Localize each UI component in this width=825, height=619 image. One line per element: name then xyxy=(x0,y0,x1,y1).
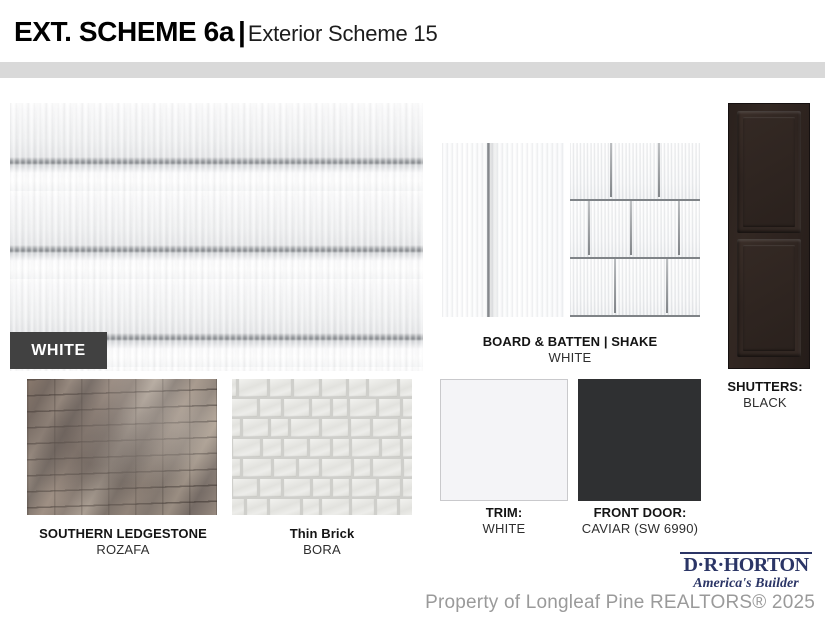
brick-unit xyxy=(400,499,412,515)
brick-unit xyxy=(379,479,401,497)
brick-unit xyxy=(401,419,412,437)
caption-title: Thin Brick xyxy=(236,526,408,542)
brick-unit xyxy=(284,479,310,497)
brick-unit xyxy=(322,499,349,515)
caption-title: BOARD & BATTEN | SHAKE xyxy=(430,334,710,350)
brick-unit xyxy=(369,379,397,397)
brick-unit xyxy=(270,379,291,397)
brick-unit xyxy=(379,399,400,417)
brick-unit xyxy=(312,399,330,417)
brick-unit xyxy=(303,499,319,515)
brick-unit xyxy=(260,479,282,497)
caption-title: SHUTTERS: xyxy=(706,379,824,395)
brick-course xyxy=(232,379,412,400)
caption-value: BORA xyxy=(236,542,408,558)
brick-course xyxy=(232,439,412,460)
brick-unit xyxy=(351,419,370,437)
caption-title: FRONT DOOR: xyxy=(565,505,715,521)
brick-unit xyxy=(274,459,296,477)
brick-unit xyxy=(404,459,412,477)
caption-thin-brick: Thin Brick BORA xyxy=(236,526,408,559)
brick-unit xyxy=(333,439,349,457)
page-header: EXT. SCHEME 6a|Exterior Scheme 15 xyxy=(0,0,825,62)
caption-title: SOUTHERN LEDGESTONE xyxy=(12,526,234,542)
stone-swatch-southern-ledgestone xyxy=(27,379,217,515)
siding-swatch-white xyxy=(10,103,423,371)
brick-unit xyxy=(284,439,306,457)
caption-trim: TRIM: WHITE xyxy=(434,505,574,538)
caption-board-batten-shake: BOARD & BATTEN | SHAKE WHITE xyxy=(430,334,710,367)
logo-name: D·R·HORTON xyxy=(676,555,816,575)
brick-unit xyxy=(239,379,267,397)
brick-course xyxy=(232,459,412,480)
brick-unit xyxy=(260,399,281,417)
brick-unit xyxy=(382,439,400,457)
brick-unit xyxy=(333,399,347,417)
brick-course xyxy=(232,479,412,500)
brick-unit xyxy=(403,439,412,457)
brick-unit xyxy=(352,439,379,457)
header-divider-band xyxy=(0,62,825,78)
brick-unit xyxy=(333,479,349,497)
caption-southern-ledgestone: SOUTHERN LEDGESTONE ROZAFA xyxy=(12,526,234,559)
brick-unit xyxy=(313,479,330,497)
brick-swatch-thin-brick xyxy=(232,379,412,515)
brick-unit xyxy=(243,419,268,437)
brick-unit xyxy=(322,459,351,477)
page-title-sub: Exterior Scheme 15 xyxy=(248,21,438,46)
brick-unit xyxy=(232,379,236,397)
caption-value: CAVIAR (SW 6990) xyxy=(565,521,715,537)
brick-unit xyxy=(352,499,374,515)
caption-front-door: FRONT DOOR: CAVIAR (SW 6990) xyxy=(565,505,715,538)
brick-course xyxy=(232,499,412,515)
shake-course xyxy=(570,259,700,317)
caption-value: WHITE xyxy=(434,521,574,537)
brick-unit xyxy=(299,459,319,477)
caption-value: ROZAFA xyxy=(12,542,234,558)
brick-unit xyxy=(377,499,397,515)
shake-course xyxy=(570,201,700,259)
brick-unit xyxy=(232,459,240,477)
caption-value: BLACK xyxy=(706,395,824,411)
brick-unit xyxy=(373,419,398,437)
brick-unit xyxy=(232,499,244,515)
shake-seam xyxy=(614,259,616,313)
brick-unit xyxy=(233,439,260,457)
brick-unit xyxy=(403,399,412,417)
caption-value: WHITE xyxy=(430,350,710,366)
caption-shutters: SHUTTERS: BLACK xyxy=(706,379,824,412)
brick-unit xyxy=(352,479,376,497)
brick-unit xyxy=(310,439,330,457)
brick-unit xyxy=(373,459,401,477)
brick-unit xyxy=(247,499,267,515)
brick-course xyxy=(232,419,412,440)
brick-unit xyxy=(322,419,348,437)
board-and-batten-swatch xyxy=(442,143,564,317)
shutter-panel-bottom xyxy=(737,239,801,357)
shake-seam xyxy=(610,143,612,197)
brick-unit xyxy=(232,399,257,417)
page-title: EXT. SCHEME 6a|Exterior Scheme 15 xyxy=(14,18,437,46)
shake-seam xyxy=(630,201,632,255)
shake-seam xyxy=(678,201,680,255)
color-swatch-front-door xyxy=(578,379,701,501)
page-title-separator: | xyxy=(234,16,248,47)
board-seam-shadow xyxy=(489,143,499,317)
brick-unit xyxy=(403,479,412,497)
brick-unit xyxy=(400,379,412,397)
shake-course xyxy=(570,143,700,201)
brick-unit xyxy=(349,379,365,397)
batten-strip xyxy=(487,143,490,317)
brick-unit xyxy=(322,379,346,397)
brick-unit xyxy=(263,439,281,457)
logo-tagline: America's Builder xyxy=(676,576,816,591)
shake-seam xyxy=(666,259,668,313)
brick-unit xyxy=(294,379,319,397)
status-badge-siding-color: WHITE xyxy=(10,332,107,369)
shake-seam xyxy=(588,201,590,255)
brick-unit xyxy=(233,479,257,497)
watermark-text: Property of Longleaf Pine REALTORS® 2025 xyxy=(0,592,825,614)
shutter-panel-top xyxy=(737,111,801,233)
caption-title: TRIM: xyxy=(434,505,574,521)
shake-seam xyxy=(658,143,660,197)
brick-unit xyxy=(271,419,287,437)
brick-unit xyxy=(243,459,271,477)
brick-course xyxy=(232,399,412,420)
brick-unit xyxy=(350,399,376,417)
siding-badge-label: WHITE xyxy=(31,342,86,360)
shake-swatch xyxy=(570,143,700,317)
brick-unit xyxy=(232,419,240,437)
brick-unit xyxy=(270,499,300,515)
color-swatch-trim xyxy=(440,379,568,501)
brick-unit xyxy=(354,459,370,477)
brick-unit xyxy=(291,419,319,437)
page-title-main: EXT. SCHEME 6a xyxy=(14,16,234,47)
brick-unit xyxy=(284,399,309,417)
shutter-swatch-black xyxy=(728,103,810,369)
